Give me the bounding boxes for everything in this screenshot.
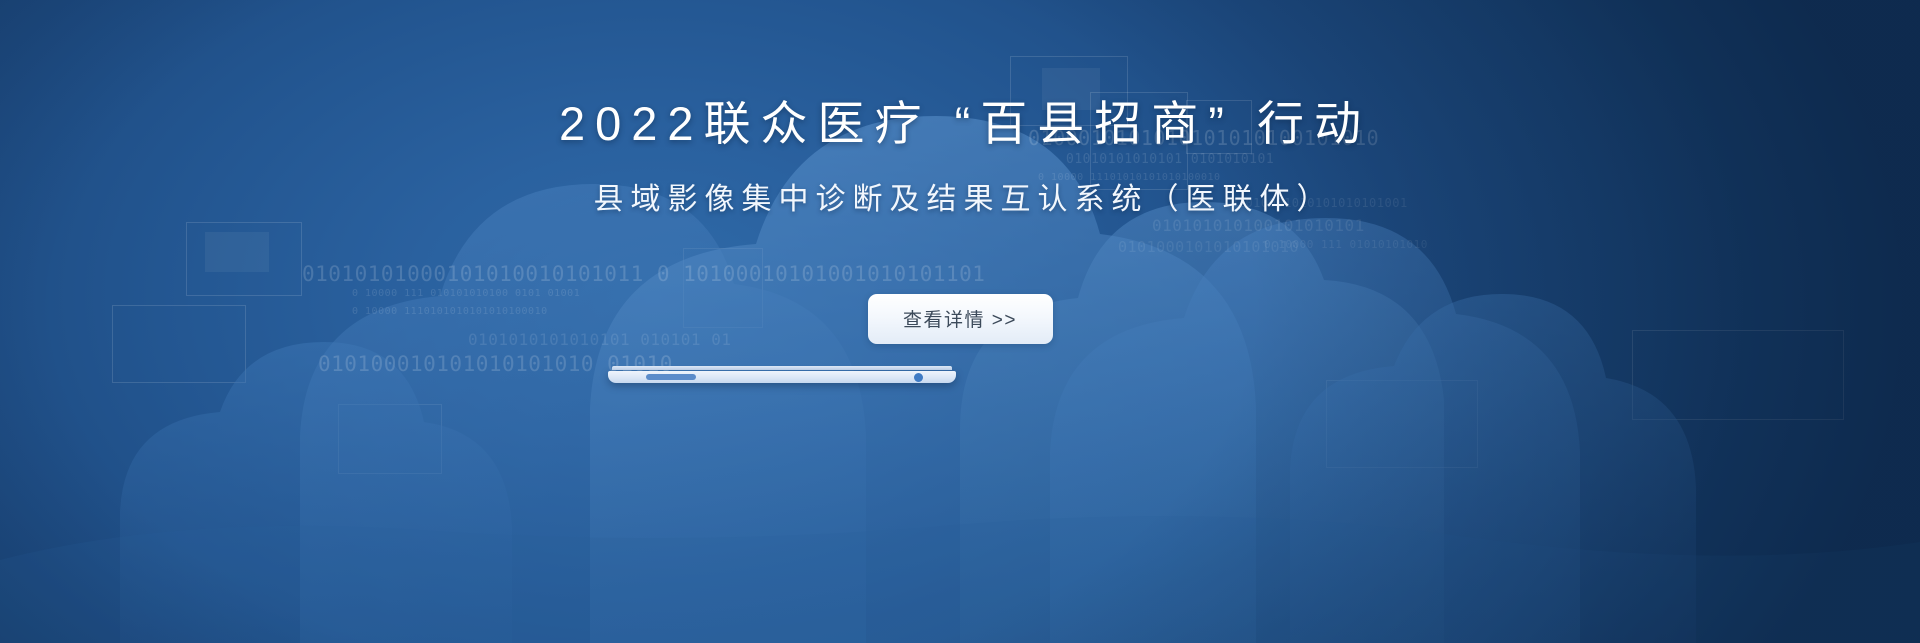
page-title: 2022联众医疗 “百县招商” 行动 (0, 96, 1920, 152)
cta-container: 查看详情 >> (0, 294, 1920, 344)
laptop-speaker-icon (646, 374, 696, 380)
view-details-button[interactable]: 查看详情 >> (868, 294, 1053, 344)
laptop-indicator-dot (914, 373, 923, 382)
laptop-lid (612, 366, 952, 370)
promo-banner: 01010101000101010010101011 0 10100010101… (0, 0, 1920, 643)
banner-content: 2022联众医疗 “百县招商” 行动 县域影像集中诊断及结果互认系统（医联体） … (0, 0, 1920, 643)
page-subtitle: 县域影像集中诊断及结果互认系统（医联体） (0, 180, 1920, 220)
laptop-device-graphic (608, 366, 956, 386)
